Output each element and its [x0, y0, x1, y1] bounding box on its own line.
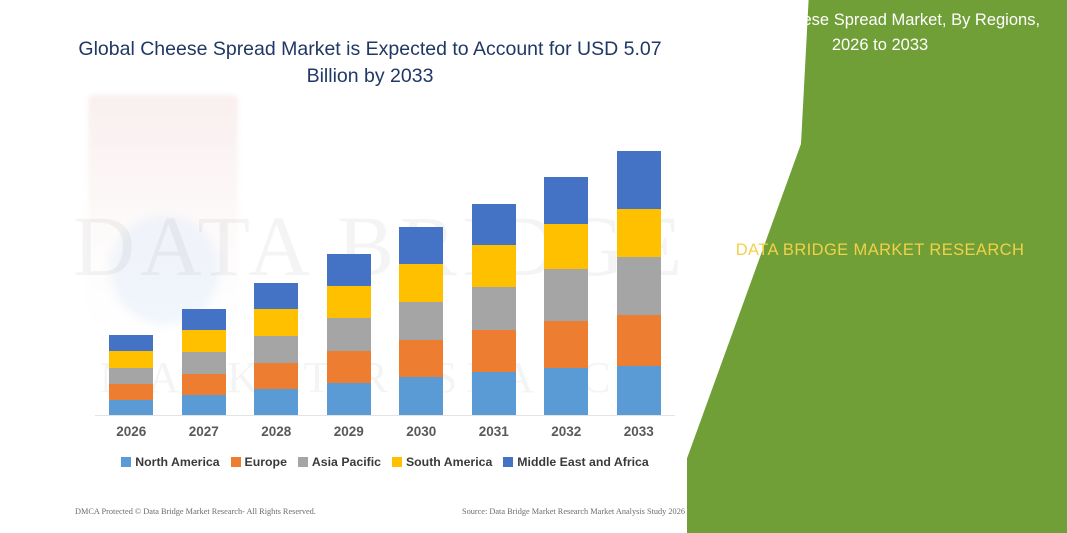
- x-axis-labels: 20262027202820292030203120322033: [95, 424, 675, 444]
- legend-item-middle-east-and-africa[interactable]: Middle East and Africa: [503, 455, 648, 469]
- bar-2028[interactable]: [254, 283, 298, 416]
- legend-label: South America: [406, 455, 492, 469]
- segment-asia-pacific: [109, 368, 153, 384]
- legend-label: Middle East and Africa: [517, 455, 648, 469]
- segment-middle-east-and-africa: [327, 254, 371, 286]
- footer-copyright: DMCA Protected © Data Bridge Market Rese…: [75, 507, 316, 516]
- legend-item-north-america[interactable]: North America: [121, 455, 219, 469]
- legend-item-south-america[interactable]: South America: [392, 455, 492, 469]
- segment-north-america: [109, 400, 153, 416]
- segment-south-america: [472, 245, 516, 287]
- segment-south-america: [544, 224, 588, 269]
- bar-2027[interactable]: [182, 309, 226, 416]
- segment-north-america: [399, 377, 443, 416]
- segment-europe: [544, 321, 588, 368]
- x-label-2031: 2031: [464, 424, 524, 439]
- legend-item-asia-pacific[interactable]: Asia Pacific: [298, 455, 381, 469]
- segment-asia-pacific: [399, 302, 443, 340]
- x-label-2027: 2027: [174, 424, 234, 439]
- bar-2033[interactable]: [617, 151, 661, 416]
- legend-swatch-icon: [121, 457, 131, 467]
- green-background-shape: [687, 0, 1067, 533]
- segment-asia-pacific: [327, 318, 371, 351]
- segment-europe: [327, 351, 371, 383]
- x-label-2029: 2029: [319, 424, 379, 439]
- segment-asia-pacific: [472, 287, 516, 330]
- segment-asia-pacific: [544, 269, 588, 321]
- x-label-2033: 2033: [609, 424, 669, 439]
- segment-north-america: [472, 372, 516, 416]
- x-label-2028: 2028: [246, 424, 306, 439]
- segment-north-america: [544, 368, 588, 416]
- bar-2029[interactable]: [327, 254, 371, 416]
- segment-europe: [182, 374, 226, 395]
- bar-2032[interactable]: [544, 177, 588, 416]
- segment-middle-east-and-africa: [544, 177, 588, 224]
- segment-middle-east-and-africa: [399, 227, 443, 264]
- chart-legend: North AmericaEuropeAsia PacificSouth Ame…: [95, 455, 675, 469]
- segment-middle-east-and-africa: [254, 283, 298, 309]
- bar-2026[interactable]: [109, 335, 153, 416]
- segment-north-america: [617, 366, 661, 416]
- segment-north-america: [327, 383, 371, 416]
- segment-middle-east-and-africa: [617, 151, 661, 209]
- segment-south-america: [109, 351, 153, 368]
- segment-europe: [109, 384, 153, 400]
- segment-middle-east-and-africa: [472, 204, 516, 245]
- x-label-2032: 2032: [536, 424, 596, 439]
- segment-south-america: [327, 286, 371, 318]
- segment-europe: [254, 363, 298, 389]
- legend-item-europe[interactable]: Europe: [231, 455, 287, 469]
- segment-asia-pacific: [254, 336, 298, 363]
- segment-europe: [399, 340, 443, 377]
- segment-europe: [617, 315, 661, 366]
- segment-europe: [472, 330, 516, 372]
- segment-south-america: [617, 209, 661, 257]
- segment-south-america: [399, 264, 443, 302]
- bar-2030[interactable]: [399, 227, 443, 416]
- x-label-2026: 2026: [101, 424, 161, 439]
- info-panel: Global Cheese Spread Market, By Regions,…: [687, 0, 1067, 533]
- plot-area: [95, 140, 675, 416]
- legend-swatch-icon: [392, 457, 402, 467]
- legend-swatch-icon: [298, 457, 308, 467]
- segment-asia-pacific: [617, 257, 661, 315]
- bar-2031[interactable]: [472, 204, 516, 416]
- legend-label: Asia Pacific: [312, 455, 381, 469]
- segment-asia-pacific: [182, 352, 226, 374]
- legend-label: North America: [135, 455, 219, 469]
- segment-south-america: [182, 330, 226, 352]
- chart-panel: DATA BRIDGE MARKET RESEARCH Global Chees…: [0, 0, 760, 533]
- segment-middle-east-and-africa: [109, 335, 153, 351]
- footer-source: Source: Data Bridge Market Research Mark…: [462, 507, 685, 516]
- axis-baseline: [95, 415, 675, 416]
- x-label-2030: 2030: [391, 424, 451, 439]
- segment-north-america: [254, 389, 298, 416]
- legend-label: Europe: [245, 455, 287, 469]
- brand-name: DATA BRIDGE MARKET RESEARCH: [715, 238, 1045, 263]
- info-panel-title: Global Cheese Spread Market, By Regions,…: [715, 8, 1045, 58]
- chart-title: Global Cheese Spread Market is Expected …: [60, 36, 680, 90]
- segment-middle-east-and-africa: [182, 309, 226, 330]
- legend-swatch-icon: [231, 457, 241, 467]
- legend-swatch-icon: [503, 457, 513, 467]
- segment-north-america: [182, 395, 226, 416]
- segment-south-america: [254, 309, 298, 336]
- footer: DMCA Protected © Data Bridge Market Rese…: [75, 507, 685, 516]
